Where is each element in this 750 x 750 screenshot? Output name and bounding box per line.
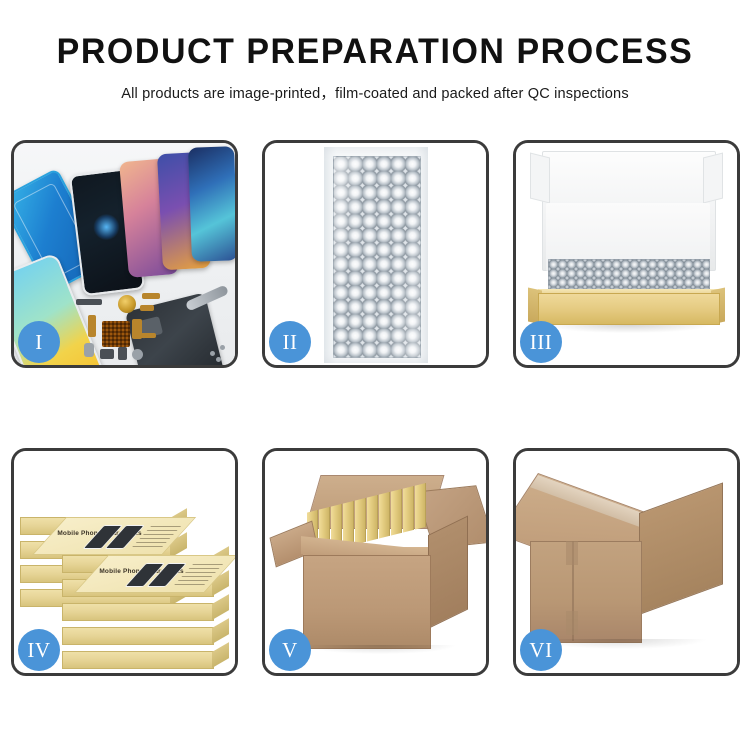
phone-screen-graphic: [188, 146, 235, 262]
screw-graphic: [220, 345, 225, 350]
product-preparation-infographic: PRODUCT PREPARATION PROCESS All products…: [0, 0, 750, 750]
spare-part-graphic: [142, 293, 160, 299]
step-panel-1: I: [11, 140, 238, 368]
step-panel-5: V: [262, 448, 489, 676]
kraft-box-in-carton: [391, 489, 402, 544]
step-panel-3: III: [513, 140, 740, 368]
box-side: [212, 618, 229, 644]
carton-side-right: [639, 482, 723, 615]
step-badge-1: I: [18, 321, 60, 363]
screw-graphic: [216, 357, 221, 362]
step-panel-2: II: [262, 140, 489, 368]
spare-part-graphic: [118, 347, 127, 360]
bubble-wrap-pouch-graphic: [324, 147, 428, 363]
box-lid-tab-right: [703, 153, 723, 204]
spare-part-graphic: [140, 305, 154, 311]
pouch-seal: [324, 147, 428, 363]
step-2-illustration: II: [265, 143, 486, 365]
step-badge-4: IV: [18, 629, 60, 671]
carton-side-right: [428, 515, 468, 629]
page-subtitle: All products are image-printed，film-coat…: [0, 82, 750, 103]
carton-front-panel: [303, 555, 431, 649]
step-4-illustration: Mobile Phone Spare Parts Mobile Phone Sp…: [14, 451, 235, 673]
spare-part-graphic: [76, 299, 102, 305]
drop-shadow: [546, 325, 710, 333]
kraft-box-in-carton: [379, 492, 390, 547]
spare-part-graphic: [102, 321, 130, 347]
spare-part-graphic: [100, 349, 114, 359]
carton-front-panel: [530, 541, 642, 643]
step-badge-2: II: [269, 321, 311, 363]
packing-tape-graphic: [566, 611, 578, 635]
packing-tape-graphic: [566, 541, 578, 565]
step-panel-6: VI: [513, 448, 740, 676]
kraft-box-in-carton: [403, 486, 414, 541]
header: PRODUCT PREPARATION PROCESS All products…: [0, 0, 750, 103]
kraft-box-in-carton: [367, 495, 378, 550]
step-3-illustration: III: [516, 143, 737, 365]
step-5-illustration: V: [265, 451, 486, 673]
step-badge-3: III: [520, 321, 562, 363]
screw-graphic: [210, 351, 215, 356]
step-1-illustration: I: [14, 143, 235, 365]
box-side: [212, 642, 229, 668]
spare-part-graphic: [84, 343, 94, 357]
box-side: [212, 594, 229, 620]
spare-part-graphic: [88, 315, 96, 337]
kraft-box: [62, 627, 214, 645]
page-title: PRODUCT PREPARATION PROCESS: [11, 34, 739, 69]
step-badge-6: VI: [520, 629, 562, 671]
drop-shadow: [305, 645, 455, 654]
kraft-box: [62, 603, 214, 621]
box-front-panel: [538, 293, 720, 325]
kraft-box-in-carton: [415, 483, 426, 538]
spare-part-graphic: [140, 333, 156, 338]
kraft-box: [62, 651, 214, 669]
box-lid-tab-left: [530, 153, 550, 204]
step-panel-4: Mobile Phone Spare Parts Mobile Phone Sp…: [11, 448, 238, 676]
spare-part-graphic: [118, 295, 136, 313]
step-6-illustration: VI: [516, 451, 737, 673]
step-badge-5: V: [269, 629, 311, 671]
process-steps-grid: I II: [11, 140, 739, 676]
spare-part-graphic: [132, 349, 143, 360]
